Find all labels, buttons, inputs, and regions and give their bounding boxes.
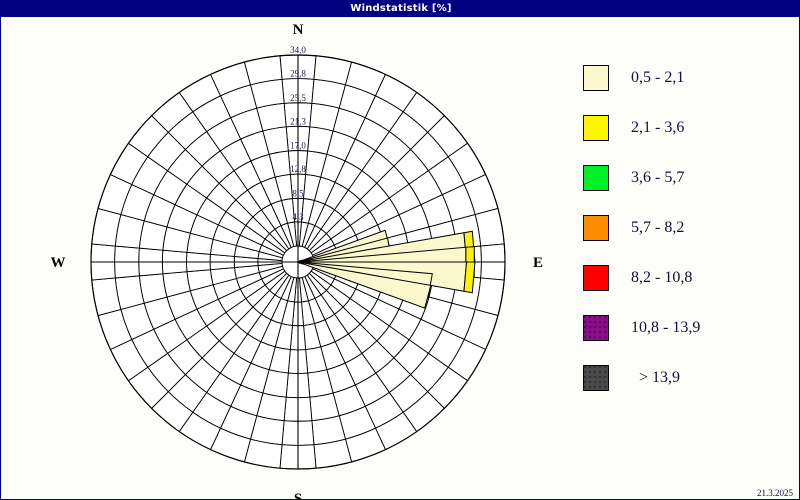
legend-item[interactable]: > 13,9	[583, 353, 793, 403]
legend-label: 2,1 - 3,6	[631, 119, 684, 137]
compass-label-north: N	[293, 22, 304, 38]
radial-tick-label: 12,8	[290, 164, 306, 174]
window-titlebar: Windstatistik [%]	[1, 1, 800, 17]
legend-item[interactable]: 10,8 - 13,9	[583, 303, 793, 353]
legend-item[interactable]: 0,5 - 2,1	[583, 53, 793, 103]
compass-label-east: E	[533, 255, 543, 271]
date-stamp: 21.3.2025	[757, 488, 793, 498]
radial-tick-label: 17,0	[290, 141, 306, 151]
radial-tick-label: 34,0	[290, 45, 306, 55]
legend-item[interactable]: 3,6 - 5,7	[583, 153, 793, 203]
radial-tick-label: 25,5	[290, 93, 306, 103]
legend-swatch	[583, 115, 609, 141]
legend-swatch	[583, 165, 609, 191]
legend-swatch	[583, 65, 609, 91]
compass-label-west: W	[51, 255, 66, 271]
legend-label: 8,2 - 10,8	[631, 269, 692, 287]
window-title: Windstatistik [%]	[350, 3, 451, 14]
legend-item[interactable]: 5,7 - 8,2	[583, 203, 793, 253]
speed-bin-legend: 0,5 - 2,1 2,1 - 3,6 3,6 - 5,7 5,7 - 8,2 …	[583, 53, 793, 403]
chart-canvas: 4,38,512,817,021,325,529,834,0 N S E W 0…	[1, 17, 800, 500]
radial-tick-label: 4,3	[292, 212, 304, 222]
legend-item[interactable]: 2,1 - 3,6	[583, 103, 793, 153]
compass-label-south: S	[294, 491, 302, 500]
legend-item[interactable]: 8,2 - 10,8	[583, 253, 793, 303]
legend-swatch	[583, 215, 609, 241]
legend-swatch	[583, 265, 609, 291]
legend-label: 3,6 - 5,7	[631, 169, 684, 187]
legend-swatch	[583, 315, 609, 341]
radial-tick-label: 8,5	[292, 188, 304, 198]
radial-tick-label: 21,3	[290, 116, 306, 126]
legend-label: 0,5 - 2,1	[631, 69, 684, 87]
legend-label: 10,8 - 13,9	[631, 319, 700, 337]
radial-tick-label: 29,8	[290, 69, 306, 79]
legend-label: > 13,9	[639, 369, 680, 387]
legend-swatch	[583, 365, 609, 391]
windrose-window: Windstatistik [%] 4,38,512,817,021,325,5…	[0, 0, 800, 500]
legend-label: 5,7 - 8,2	[631, 219, 684, 237]
